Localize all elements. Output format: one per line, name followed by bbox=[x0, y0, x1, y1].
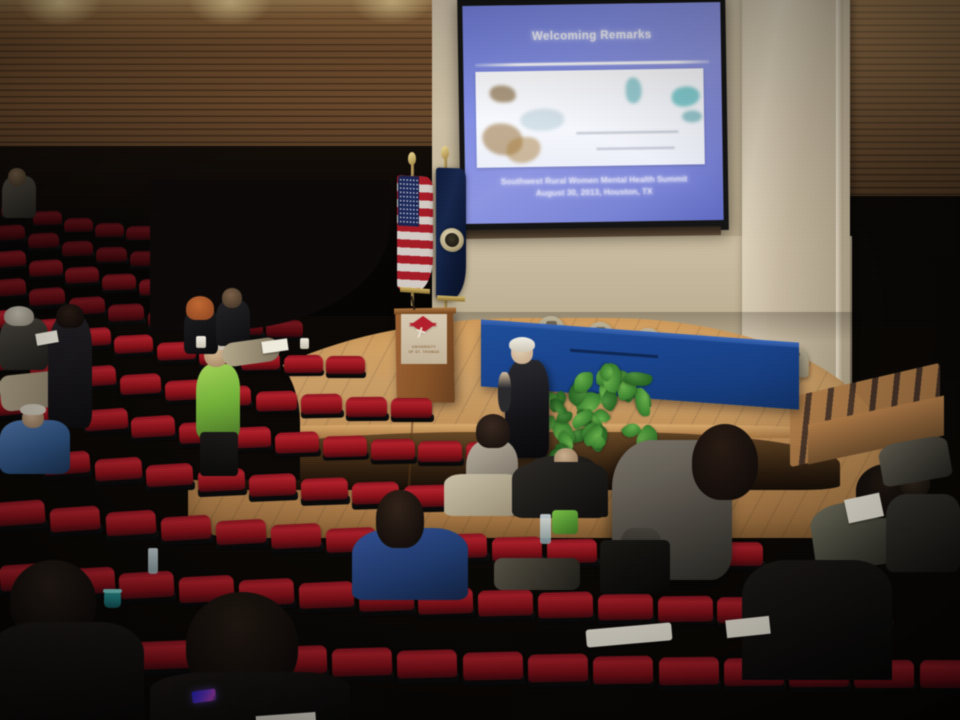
water-bottle[interactable] bbox=[540, 514, 551, 544]
auditorium-seat[interactable] bbox=[657, 595, 712, 622]
tote-bag[interactable] bbox=[600, 540, 670, 594]
auditorium-seat[interactable] bbox=[249, 473, 297, 498]
brick-wall-right bbox=[836, 0, 960, 205]
slide-divider bbox=[475, 60, 709, 66]
auditorium-seat[interactable] bbox=[119, 571, 175, 600]
flagpole-finial-icon bbox=[408, 152, 416, 165]
standing-woman-left-hair bbox=[56, 304, 84, 328]
slide-graphic-blob bbox=[520, 108, 564, 131]
auditorium-seat[interactable] bbox=[462, 652, 522, 682]
left-attendee-hair bbox=[4, 306, 34, 326]
auditorium-photo: Welcoming Remarks Southwest Rural Women … bbox=[0, 0, 960, 720]
person-blue-shirt-left bbox=[0, 420, 70, 474]
auditorium-seat[interactable] bbox=[28, 233, 60, 249]
teal-cup-lid bbox=[103, 589, 122, 593]
upper-left-seated-head bbox=[8, 168, 26, 186]
auditorium-seat[interactable] bbox=[300, 477, 348, 501]
auditorium-seat[interactable] bbox=[32, 210, 61, 225]
auditorium-seat[interactable] bbox=[29, 287, 66, 307]
person-tan-pants-seated bbox=[444, 474, 520, 516]
auditorium-seat[interactable] bbox=[322, 435, 366, 457]
person-man-green-shirt bbox=[196, 364, 240, 438]
auditorium-seat[interactable] bbox=[114, 334, 154, 354]
auditorium-seat[interactable] bbox=[96, 246, 128, 262]
slide-title: Welcoming Remarks bbox=[463, 28, 721, 44]
auditorium-seat[interactable] bbox=[102, 273, 136, 290]
auditorium-seat[interactable] bbox=[528, 654, 588, 684]
slide-graphic-line bbox=[576, 131, 678, 135]
auditorium-seat[interactable] bbox=[0, 500, 46, 528]
auditorium-seat[interactable] bbox=[346, 397, 387, 417]
slide-graphic-blob bbox=[506, 137, 540, 164]
standing-woman-hair bbox=[692, 424, 758, 500]
auditorium-seat[interactable] bbox=[95, 222, 124, 236]
auditorium-seat[interactable] bbox=[332, 647, 392, 677]
seated-woman-hair bbox=[476, 414, 510, 448]
auditorium-seat[interactable] bbox=[538, 592, 593, 619]
auditorium-seat[interactable] bbox=[275, 431, 319, 453]
woman-blue-shirt-hair bbox=[376, 490, 424, 548]
tote-bag[interactable] bbox=[552, 510, 578, 534]
auditorium-seat[interactable] bbox=[0, 224, 26, 241]
tote-bag[interactable] bbox=[494, 558, 580, 590]
auditorium-seat[interactable] bbox=[94, 457, 142, 483]
auditorium-seat[interactable] bbox=[120, 372, 162, 394]
slide-graphic-blob bbox=[682, 110, 702, 122]
auditorium-seat[interactable] bbox=[283, 354, 322, 373]
auditorium-seat[interactable] bbox=[391, 398, 432, 418]
slide-graphic-blob bbox=[625, 77, 641, 103]
auditorium-seat[interactable] bbox=[28, 259, 62, 277]
red-hair bbox=[186, 296, 214, 320]
auditorium-seat[interactable] bbox=[50, 505, 102, 532]
auditorium-seat[interactable] bbox=[300, 394, 342, 414]
slide-graphic-blob bbox=[490, 85, 516, 102]
auditorium-seat[interactable] bbox=[131, 415, 176, 438]
slide-graphic-blob bbox=[672, 86, 700, 106]
auditorium-seat[interactable] bbox=[658, 657, 718, 686]
flagpole-finial-icon bbox=[441, 146, 449, 159]
auditorium-seat[interactable] bbox=[418, 441, 462, 462]
person-far-right-body bbox=[886, 494, 960, 572]
seated-man-midleft-head bbox=[222, 288, 242, 308]
auditorium-seat[interactable] bbox=[326, 356, 365, 374]
auditorium-seat[interactable] bbox=[255, 390, 297, 411]
person-speaker-at-table bbox=[505, 360, 549, 458]
auditorium-seat[interactable] bbox=[145, 462, 193, 487]
auditorium-seat[interactable] bbox=[598, 593, 653, 620]
auditorium-seat[interactable] bbox=[593, 655, 653, 684]
speaker-hair-white bbox=[509, 337, 535, 352]
auditorium-seat[interactable] bbox=[920, 660, 960, 688]
auditorium-seat[interactable] bbox=[64, 217, 93, 231]
teal-travel-cup[interactable] bbox=[104, 592, 121, 608]
auditorium-seat[interactable] bbox=[370, 439, 414, 461]
auditorium-seat[interactable] bbox=[298, 581, 354, 609]
person-foreground-body-center bbox=[150, 672, 350, 720]
auditorium-seat[interactable] bbox=[65, 266, 99, 284]
water-bottle[interactable] bbox=[148, 548, 158, 574]
auditorium-seat[interactable] bbox=[397, 650, 457, 680]
auditorium-seat[interactable] bbox=[215, 519, 267, 546]
green-shirt-legs bbox=[200, 432, 238, 476]
speaker-arm bbox=[498, 372, 511, 412]
slide-graphic-line bbox=[597, 147, 675, 150]
auditorium-seat[interactable] bbox=[271, 523, 322, 549]
auditorium-seat[interactable] bbox=[105, 510, 157, 537]
auditorium-seat[interactable] bbox=[0, 277, 26, 297]
auditorium-seat[interactable] bbox=[62, 240, 94, 256]
person-foreground-body-left bbox=[0, 622, 144, 720]
auditorium-seat[interactable] bbox=[108, 303, 145, 322]
auditorium-seat[interactable] bbox=[160, 515, 212, 542]
auditorium-seat[interactable] bbox=[478, 589, 533, 616]
auditorium-seat[interactable] bbox=[0, 250, 26, 268]
blue-shirt-left-hair bbox=[20, 404, 46, 415]
white-cup[interactable] bbox=[196, 336, 206, 348]
white-cup[interactable] bbox=[300, 338, 309, 349]
slide-image bbox=[475, 68, 704, 168]
